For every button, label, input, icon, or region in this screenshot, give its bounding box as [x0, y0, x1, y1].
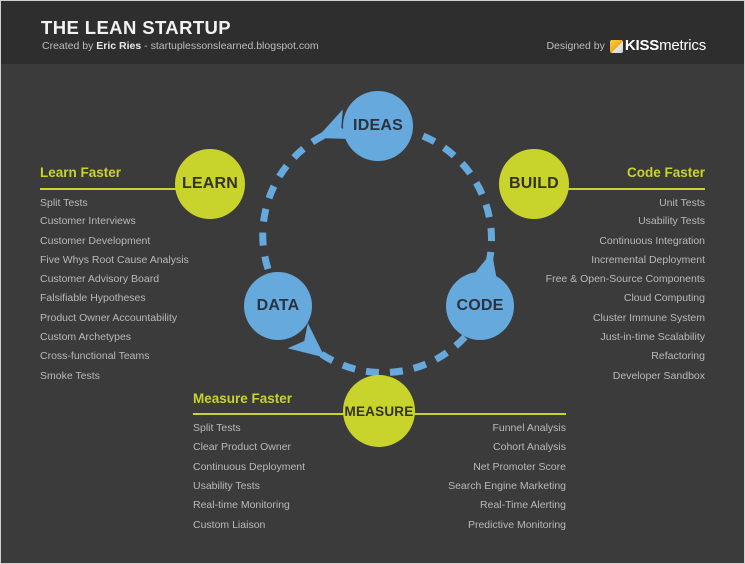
code-item-4: Free & Open-Source Components	[546, 273, 705, 285]
learn-item-5: Falsifiable Hypotheses	[40, 292, 146, 304]
author-site: - startuplessonslearned.blogspot.com	[141, 40, 318, 52]
logo-kiss-text: KISS	[625, 37, 659, 54]
designed-by-label: Designed by	[546, 40, 604, 52]
code-item-3: Incremental Deployment	[591, 254, 705, 266]
infographic-canvas: THE LEAN STARTUP Created by Eric Ries - …	[0, 0, 745, 564]
learn-item-9: Smoke Tests	[40, 370, 100, 382]
code-item-9: Developer Sandbox	[613, 370, 705, 382]
measure-right-item-3: Search Engine Marketing	[448, 480, 566, 492]
author-name: Eric Ries	[96, 40, 141, 52]
header-bar: THE LEAN STARTUP Created by Eric Ries - …	[1, 1, 745, 64]
measure-faster-heading: Measure Faster	[193, 391, 292, 406]
learn-item-4: Customer Advisory Board	[40, 273, 159, 285]
learn-faster-heading: Learn Faster	[40, 165, 121, 180]
cycle-node-measure[interactable]: MEASURE	[343, 375, 415, 447]
cycle-node-ideas[interactable]: IDEAS	[343, 91, 413, 161]
measure-faster-rule-right	[413, 413, 566, 415]
code-faster-rule	[565, 188, 705, 190]
learn-item-3: Five Whys Root Cause Analysis	[40, 254, 189, 266]
arrow-ideas-to-code	[423, 136, 492, 267]
measure-left-item-1: Clear Product Owner	[193, 441, 291, 453]
cycle-node-code[interactable]: CODE	[446, 272, 514, 340]
code-faster-heading: Code Faster	[627, 165, 705, 180]
learn-item-1: Customer Interviews	[40, 215, 136, 227]
code-item-2: Continuous Integration	[599, 235, 705, 247]
measure-faster-rule-left	[193, 413, 345, 415]
measure-left-item-4: Real-time Monitoring	[193, 499, 290, 511]
learn-item-7: Custom Archetypes	[40, 331, 131, 343]
measure-left-item-5: Custom Liaison	[193, 519, 265, 531]
cycle-node-data[interactable]: DATA	[244, 272, 312, 340]
code-item-1: Usability Tests	[638, 215, 705, 227]
page-title: THE LEAN STARTUP	[41, 17, 231, 39]
measure-left-item-0: Split Tests	[193, 422, 241, 434]
measure-right-item-0: Funnel Analysis	[492, 422, 566, 434]
measure-left-item-2: Continuous Deployment	[193, 461, 305, 473]
learn-item-8: Cross-functional Teams	[40, 350, 150, 362]
logo-metrics-text: metrics	[659, 37, 706, 54]
arrow-code-to-data	[313, 337, 465, 373]
code-item-7: Just-in-time Scalability	[601, 331, 705, 343]
header-subtitle: Created by Eric Ries - startuplessonslea…	[42, 40, 319, 52]
measure-right-item-5: Predictive Monitoring	[468, 519, 566, 531]
measure-right-item-1: Cohort Analysis	[493, 441, 566, 453]
created-by-prefix: Created by	[42, 40, 96, 52]
code-item-8: Refactoring	[651, 350, 705, 362]
code-item-5: Cloud Computing	[624, 292, 705, 304]
kissmetrics-chart-icon	[610, 40, 623, 53]
arrow-data-to-ideas	[263, 132, 331, 269]
measure-right-item-4: Real-Time Alerting	[480, 499, 566, 511]
learn-item-6: Product Owner Accountability	[40, 312, 177, 324]
learn-item-0: Split Tests	[40, 197, 88, 209]
code-item-0: Unit Tests	[659, 197, 705, 209]
measure-right-item-2: Net Promoter Score	[473, 461, 566, 473]
kissmetrics-logo: KISSmetrics	[610, 37, 706, 54]
cycle-node-learn[interactable]: LEARN	[175, 149, 245, 219]
cycle-node-build[interactable]: BUILD	[499, 149, 569, 219]
learn-item-2: Customer Development	[40, 235, 150, 247]
learn-faster-rule	[40, 188, 180, 190]
code-item-6: Cluster Immune System	[593, 312, 705, 324]
measure-left-item-3: Usability Tests	[193, 480, 260, 492]
designed-by-block: Designed by KISSmetrics	[546, 37, 706, 54]
